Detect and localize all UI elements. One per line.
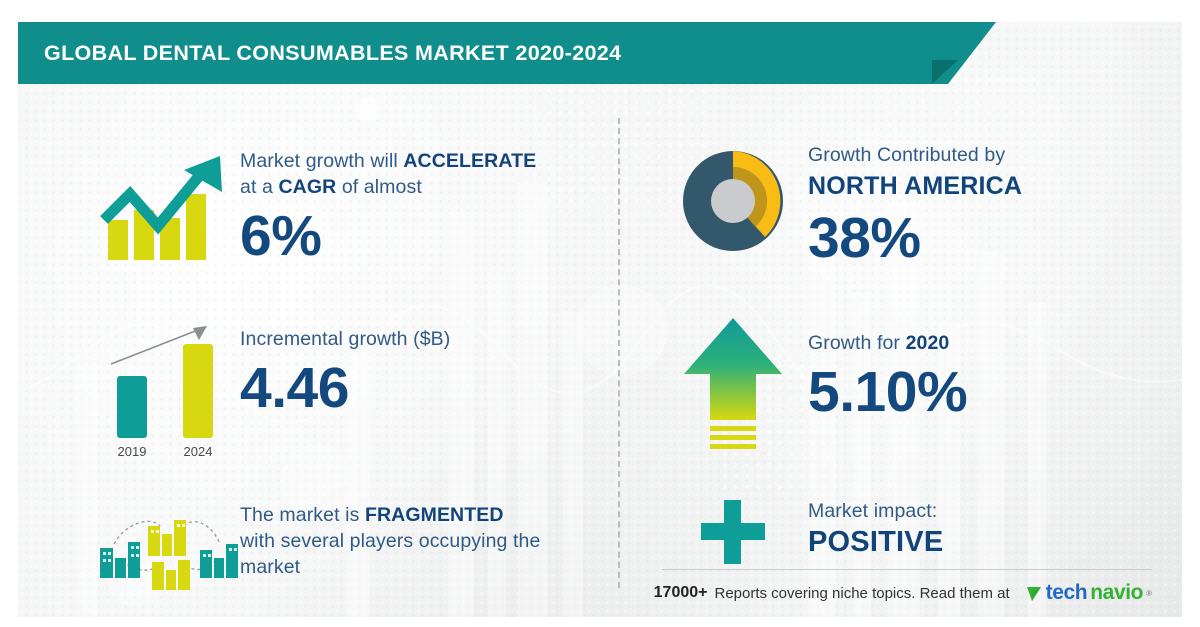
bar-label-2024: 2024 [184, 444, 213, 459]
reports-count: 17000+ [654, 584, 708, 602]
up-arrow-icon [678, 312, 788, 452]
market-impact-block: Market impact: POSITIVE [658, 492, 1182, 572]
logo-trademark: ® [1146, 589, 1152, 598]
cagr-text-2: at a [240, 176, 273, 198]
region-contribution-block: Growth Contributed by NORTH AMERICA 38% [658, 138, 1182, 268]
page-title: GLOBAL DENTAL CONSUMABLES MARKET 2020-20… [44, 41, 621, 66]
growth-year-value: 5.10% [808, 362, 1182, 422]
cagr-value: 6% [240, 206, 618, 266]
right-column: Growth Contributed by NORTH AMERICA 38% [618, 84, 1182, 579]
fragmentation-text-2: with several players occupying the [240, 530, 540, 552]
technavio-triangle-icon [1026, 584, 1043, 603]
column-divider [618, 118, 620, 588]
market-impact-caption: Market impact: [808, 498, 1182, 524]
growth-year-block: Growth for 2020 5.10% [658, 312, 1182, 452]
donut-chart-icon [673, 141, 793, 261]
footer-bar: 17000+ Reports covering niche topics. Re… [18, 569, 1182, 617]
logo-text-tech: tech [1046, 581, 1088, 605]
region-name: NORTH AMERICA [808, 170, 1182, 202]
header-fold-shadow [932, 60, 958, 84]
bar-label-2019: 2019 [118, 444, 147, 459]
cagr-block: Market growth will ACCELERATE at a CAGR … [90, 140, 618, 270]
growth-year-bold: 2020 [906, 332, 950, 354]
infographic-canvas: GLOBAL DENTAL CONSUMABLES MARKET 2020-20… [18, 22, 1182, 617]
footer-divider-line [662, 569, 1152, 570]
cagr-bold-accelerate: ACCELERATE [403, 150, 536, 172]
left-column: Market growth will ACCELERATE at a CAGR … [18, 84, 618, 579]
cagr-caption: Market growth will ACCELERATE at a CAGR … [240, 148, 618, 200]
market-impact-value: POSITIVE [808, 526, 1182, 558]
growth-year-text: Growth for [808, 332, 900, 354]
growth-year-caption: Growth for 2020 [808, 330, 1182, 356]
plus-icon [693, 492, 773, 572]
header-bar: GLOBAL DENTAL CONSUMABLES MARKET 2020-20… [18, 22, 948, 84]
cagr-text-1: Market growth will [240, 150, 398, 172]
technavio-logo[interactable]: technavio® [1026, 581, 1152, 605]
growth-chart-icon [100, 148, 230, 263]
cagr-text-3: of almost [342, 176, 422, 198]
fragmentation-bold: FRAGMENTED [365, 504, 504, 526]
content-columns: Market growth will ACCELERATE at a CAGR … [18, 84, 1182, 579]
infographic-root: GLOBAL DENTAL CONSUMABLES MARKET 2020-20… [0, 0, 1200, 627]
cagr-bold-cagr: CAGR [278, 176, 336, 198]
incremental-value: 4.46 [240, 358, 618, 418]
fragmentation-text-1: The market is [240, 504, 359, 526]
incremental-caption: Incremental growth ($B) [240, 326, 618, 352]
logo-text-navio: navio [1090, 581, 1143, 605]
region-value: 38% [808, 208, 1182, 268]
footer-tagline: Reports covering niche topics. Read them… [714, 585, 1009, 602]
region-caption: Growth Contributed by [808, 142, 1182, 168]
bar-chart-growth-icon: 2019 2024 [95, 314, 235, 464]
incremental-growth-block: 2019 2024 Incremental growth ($B) 4.46 [90, 314, 618, 464]
